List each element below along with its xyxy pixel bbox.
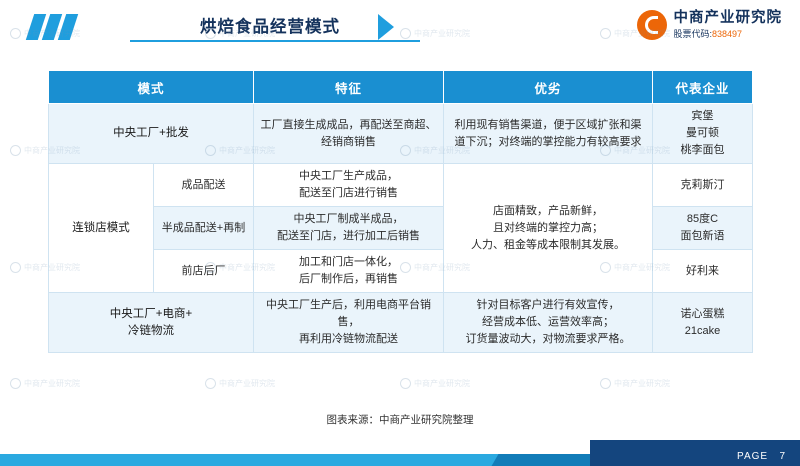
cell-representative: 诺心蛋糕21cake <box>653 293 753 353</box>
cell-mode: 中央工厂+电商+冷链物流 <box>49 293 254 353</box>
watermark-logo-icon <box>600 378 611 389</box>
watermark-text: 中商产业研究院 <box>414 378 470 389</box>
watermark: 中商产业研究院 <box>10 378 80 389</box>
watermark: 中商产业研究院 <box>205 378 275 389</box>
watermark-text: 中商产业研究院 <box>219 378 275 389</box>
table-row: 中央工厂+批发 工厂直接生成成品，再配送至商超、经销商销售 利用现有销售渠道，便… <box>49 104 753 164</box>
table-row: 中央工厂+电商+冷链物流 中央工厂生产后，利用电商平台销售，再利用冷链物流配送 … <box>49 293 753 353</box>
page-label: PAGE <box>737 451 768 462</box>
watermark-logo-icon <box>10 262 21 273</box>
slide-page: 烘焙食品经营模式 中商产业研究院 股票代码:838497 模式 特征 优劣 <box>0 0 800 466</box>
source-note: 图表来源：中商产业研究院整理 <box>0 412 800 427</box>
company-logo: 中商产业研究院 股票代码:838497 <box>637 10 783 40</box>
cell-feature: 中央工厂生产成品，配送至门店进行销售 <box>254 164 444 207</box>
logo-stock-label: 股票代码: <box>674 29 713 39</box>
table-header-row: 模式 特征 优劣 代表企业 <box>49 71 753 104</box>
cell-mode: 连锁店模式 <box>49 164 154 293</box>
cell-proscons: 针对目标客户进行有效宣传，经营成本低、运营效率高；订货量波动大，对物流要求严格。 <box>444 293 653 353</box>
col-header-representative: 代表企业 <box>653 71 753 104</box>
page-number: PAGE 7 <box>737 451 786 462</box>
watermark-text: 中商产业研究院 <box>614 378 670 389</box>
logo-company-name: 中商产业研究院 <box>674 10 783 26</box>
watermark-logo-icon <box>400 378 411 389</box>
cell-submode: 成品配送 <box>154 164 254 207</box>
cell-representative: 宾堡曼可顿桃李面包 <box>653 104 753 164</box>
watermark: 中商产业研究院 <box>600 378 670 389</box>
cell-feature: 加工和门店一体化，后厂制作后，再销售 <box>254 250 444 293</box>
col-header-proscons: 优劣 <box>444 71 653 104</box>
logo-stock-code: 838497 <box>712 29 742 39</box>
title-underline <box>130 40 420 42</box>
slide-footer: PAGE 7 <box>0 440 800 466</box>
cell-feature: 中央工厂制成半成品，配送至门店，进行加工后销售 <box>254 207 444 250</box>
cell-feature: 工厂直接生成成品，再配送至商超、经销商销售 <box>254 104 444 164</box>
watermark-text: 中商产业研究院 <box>24 378 80 389</box>
footer-bar-light <box>0 454 500 466</box>
page-title: 烘焙食品经营模式 <box>140 12 400 42</box>
cell-feature: 中央工厂生产后，利用电商平台销售，再利用冷链物流配送 <box>254 293 444 353</box>
cell-representative: 克莉斯汀 <box>653 164 753 207</box>
logo-stock-line: 股票代码:838497 <box>674 28 783 40</box>
watermark-logo-icon <box>10 145 21 156</box>
cell-representative: 好利来 <box>653 250 753 293</box>
table-row: 连锁店模式 成品配送 中央工厂生产成品，配送至门店进行销售 店面精致，产品新鲜，… <box>49 164 753 207</box>
slide-header: 烘焙食品经营模式 中商产业研究院 股票代码:838497 <box>0 0 800 58</box>
cell-submode: 前店后厂 <box>154 250 254 293</box>
watermark-logo-icon <box>205 378 216 389</box>
cell-proscons: 店面精致，产品新鲜，且对终端的掌控力高；人力、租金等成本限制其发展。 <box>444 164 653 293</box>
col-header-mode: 模式 <box>49 71 254 104</box>
cell-mode: 中央工厂+批发 <box>49 104 254 164</box>
page-value: 7 <box>779 451 786 462</box>
cell-proscons: 利用现有销售渠道，便于区域扩张和渠道下沉；对终端的掌控能力有较高要求 <box>444 104 653 164</box>
cell-submode: 半成品配送+再制 <box>154 207 254 250</box>
business-model-table: 模式 特征 优劣 代表企业 中央工厂+批发 工厂直接生成成品，再配送至商超、经销… <box>48 70 752 353</box>
col-header-feature: 特征 <box>254 71 444 104</box>
cell-representative: 85度C面包新语 <box>653 207 753 250</box>
watermark: 中商产业研究院 <box>400 378 470 389</box>
header-triangle-icon <box>378 14 394 40</box>
header-accent-bars <box>30 14 78 40</box>
circle-c-logo-icon <box>637 10 667 40</box>
watermark-logo-icon <box>10 378 21 389</box>
